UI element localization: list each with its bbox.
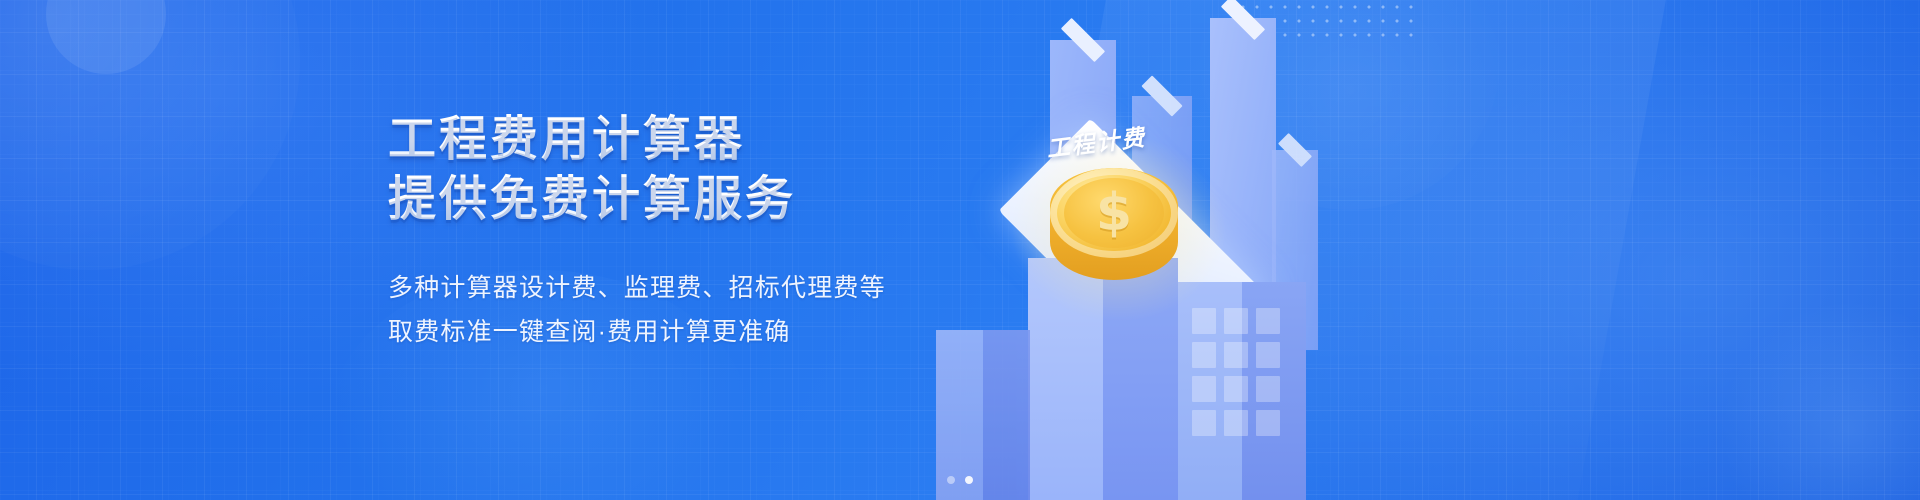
window xyxy=(1256,376,1280,402)
window xyxy=(1256,342,1280,368)
coin-face: $ xyxy=(1050,168,1178,258)
window xyxy=(1192,342,1216,368)
iso-building-left-small xyxy=(936,330,1030,500)
building-window-grid xyxy=(1192,308,1280,436)
window xyxy=(1192,308,1216,334)
dollar-sign-icon: $ xyxy=(1050,168,1178,258)
hero-banner: 工程费用计算器 提供免费计算服务 多种计算器设计费、监理费、招标代理费等 取费标… xyxy=(0,0,1920,500)
banner-illustration: $ 工程计费 xyxy=(880,0,1920,500)
decorative-circle-top-left xyxy=(0,0,300,270)
window xyxy=(1192,410,1216,436)
carousel-dot-2[interactable] xyxy=(965,476,973,484)
window xyxy=(1224,342,1248,368)
window xyxy=(1224,308,1248,334)
carousel-dot-1[interactable] xyxy=(947,476,955,484)
carousel-pagination[interactable] xyxy=(947,476,973,484)
gold-coin: $ xyxy=(1050,168,1178,280)
decorative-circle-small xyxy=(46,0,166,74)
window xyxy=(1224,410,1248,436)
window xyxy=(1192,376,1216,402)
window xyxy=(1256,410,1280,436)
iso-building-main xyxy=(1028,258,1178,500)
window xyxy=(1224,376,1248,402)
iso-building-right xyxy=(1178,282,1306,500)
window xyxy=(1256,308,1280,334)
